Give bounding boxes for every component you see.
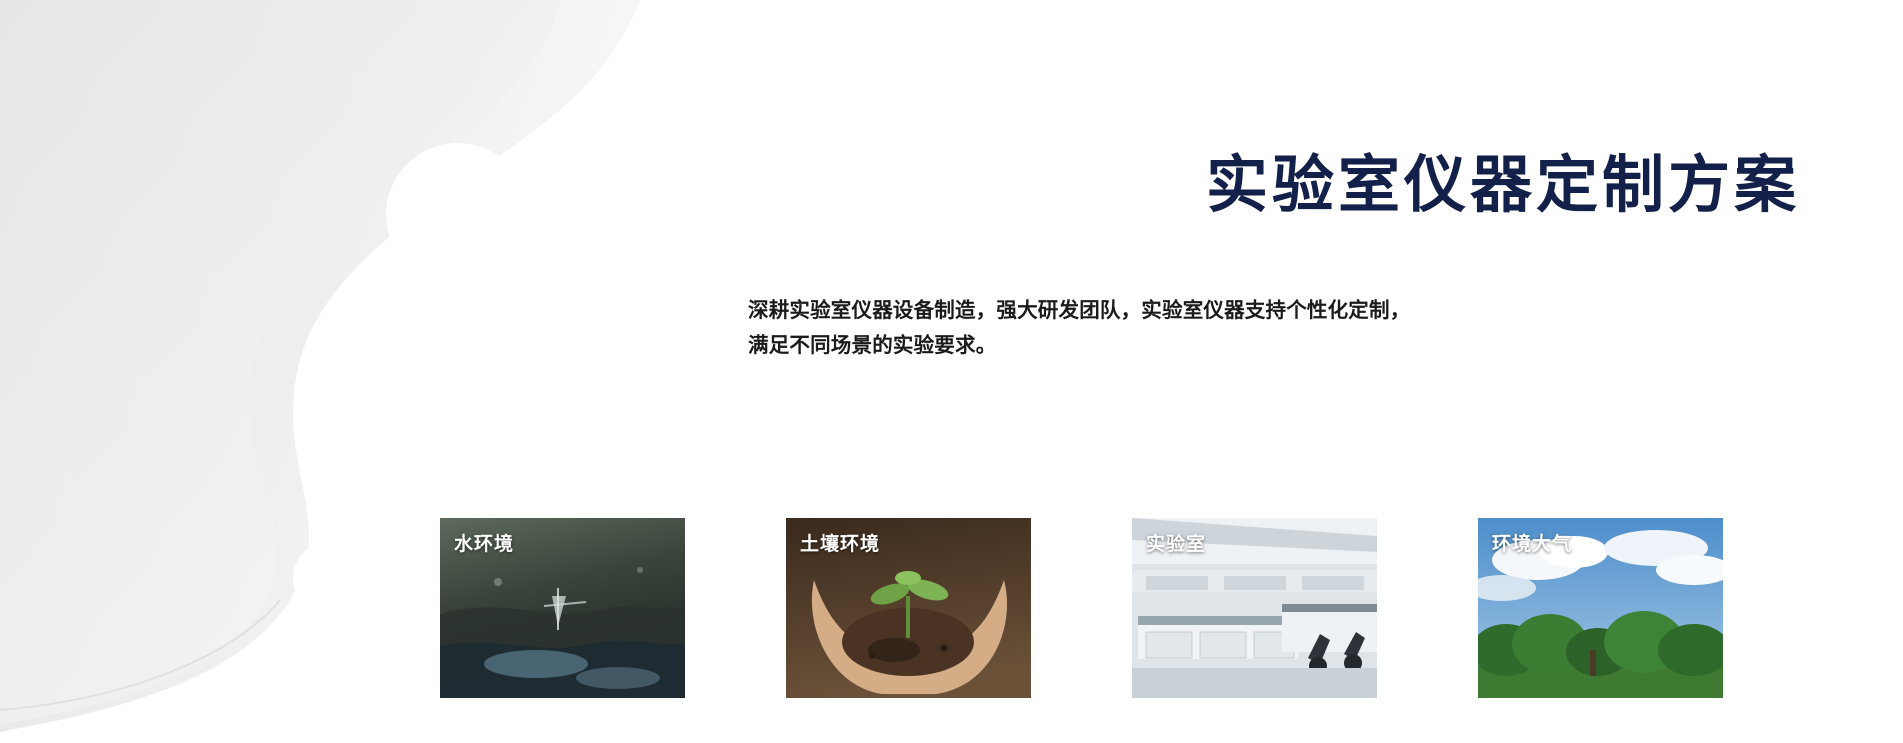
headline-container: 实验室仪器定制方案 bbox=[740, 150, 1800, 221]
subheadline-container: 深耕实验室仪器设备制造，强大研发团队，实验室仪器支持个性化定制， 满足不同场景的… bbox=[748, 293, 1710, 364]
hero-banner: 实验室仪器定制方案 深耕实验室仪器设备制造，强大研发团队，实验室仪器支持个性化定… bbox=[0, 0, 1903, 743]
category-card-list: 水环境 bbox=[440, 518, 1723, 698]
page-title: 实验室仪器定制方案 bbox=[740, 150, 1800, 221]
category-card-label: 环境大气 bbox=[1492, 529, 1572, 556]
category-card-label: 水环境 bbox=[454, 529, 514, 556]
category-card-water[interactable]: 水环境 bbox=[440, 518, 685, 698]
category-card-label: 实验室 bbox=[1146, 529, 1206, 556]
subheadline-line-1: 深耕实验室仪器设备制造，强大研发团队，实验室仪器支持个性化定制， bbox=[748, 293, 1710, 328]
subheadline-line-2: 满足不同场景的实验要求。 bbox=[748, 328, 1710, 363]
category-card-label: 土壤环境 bbox=[800, 529, 880, 556]
category-card-laboratory[interactable]: 实验室 bbox=[1132, 518, 1377, 698]
category-card-atmosphere[interactable]: 环境大气 bbox=[1478, 518, 1723, 698]
category-card-soil[interactable]: 土壤环境 bbox=[786, 518, 1031, 698]
